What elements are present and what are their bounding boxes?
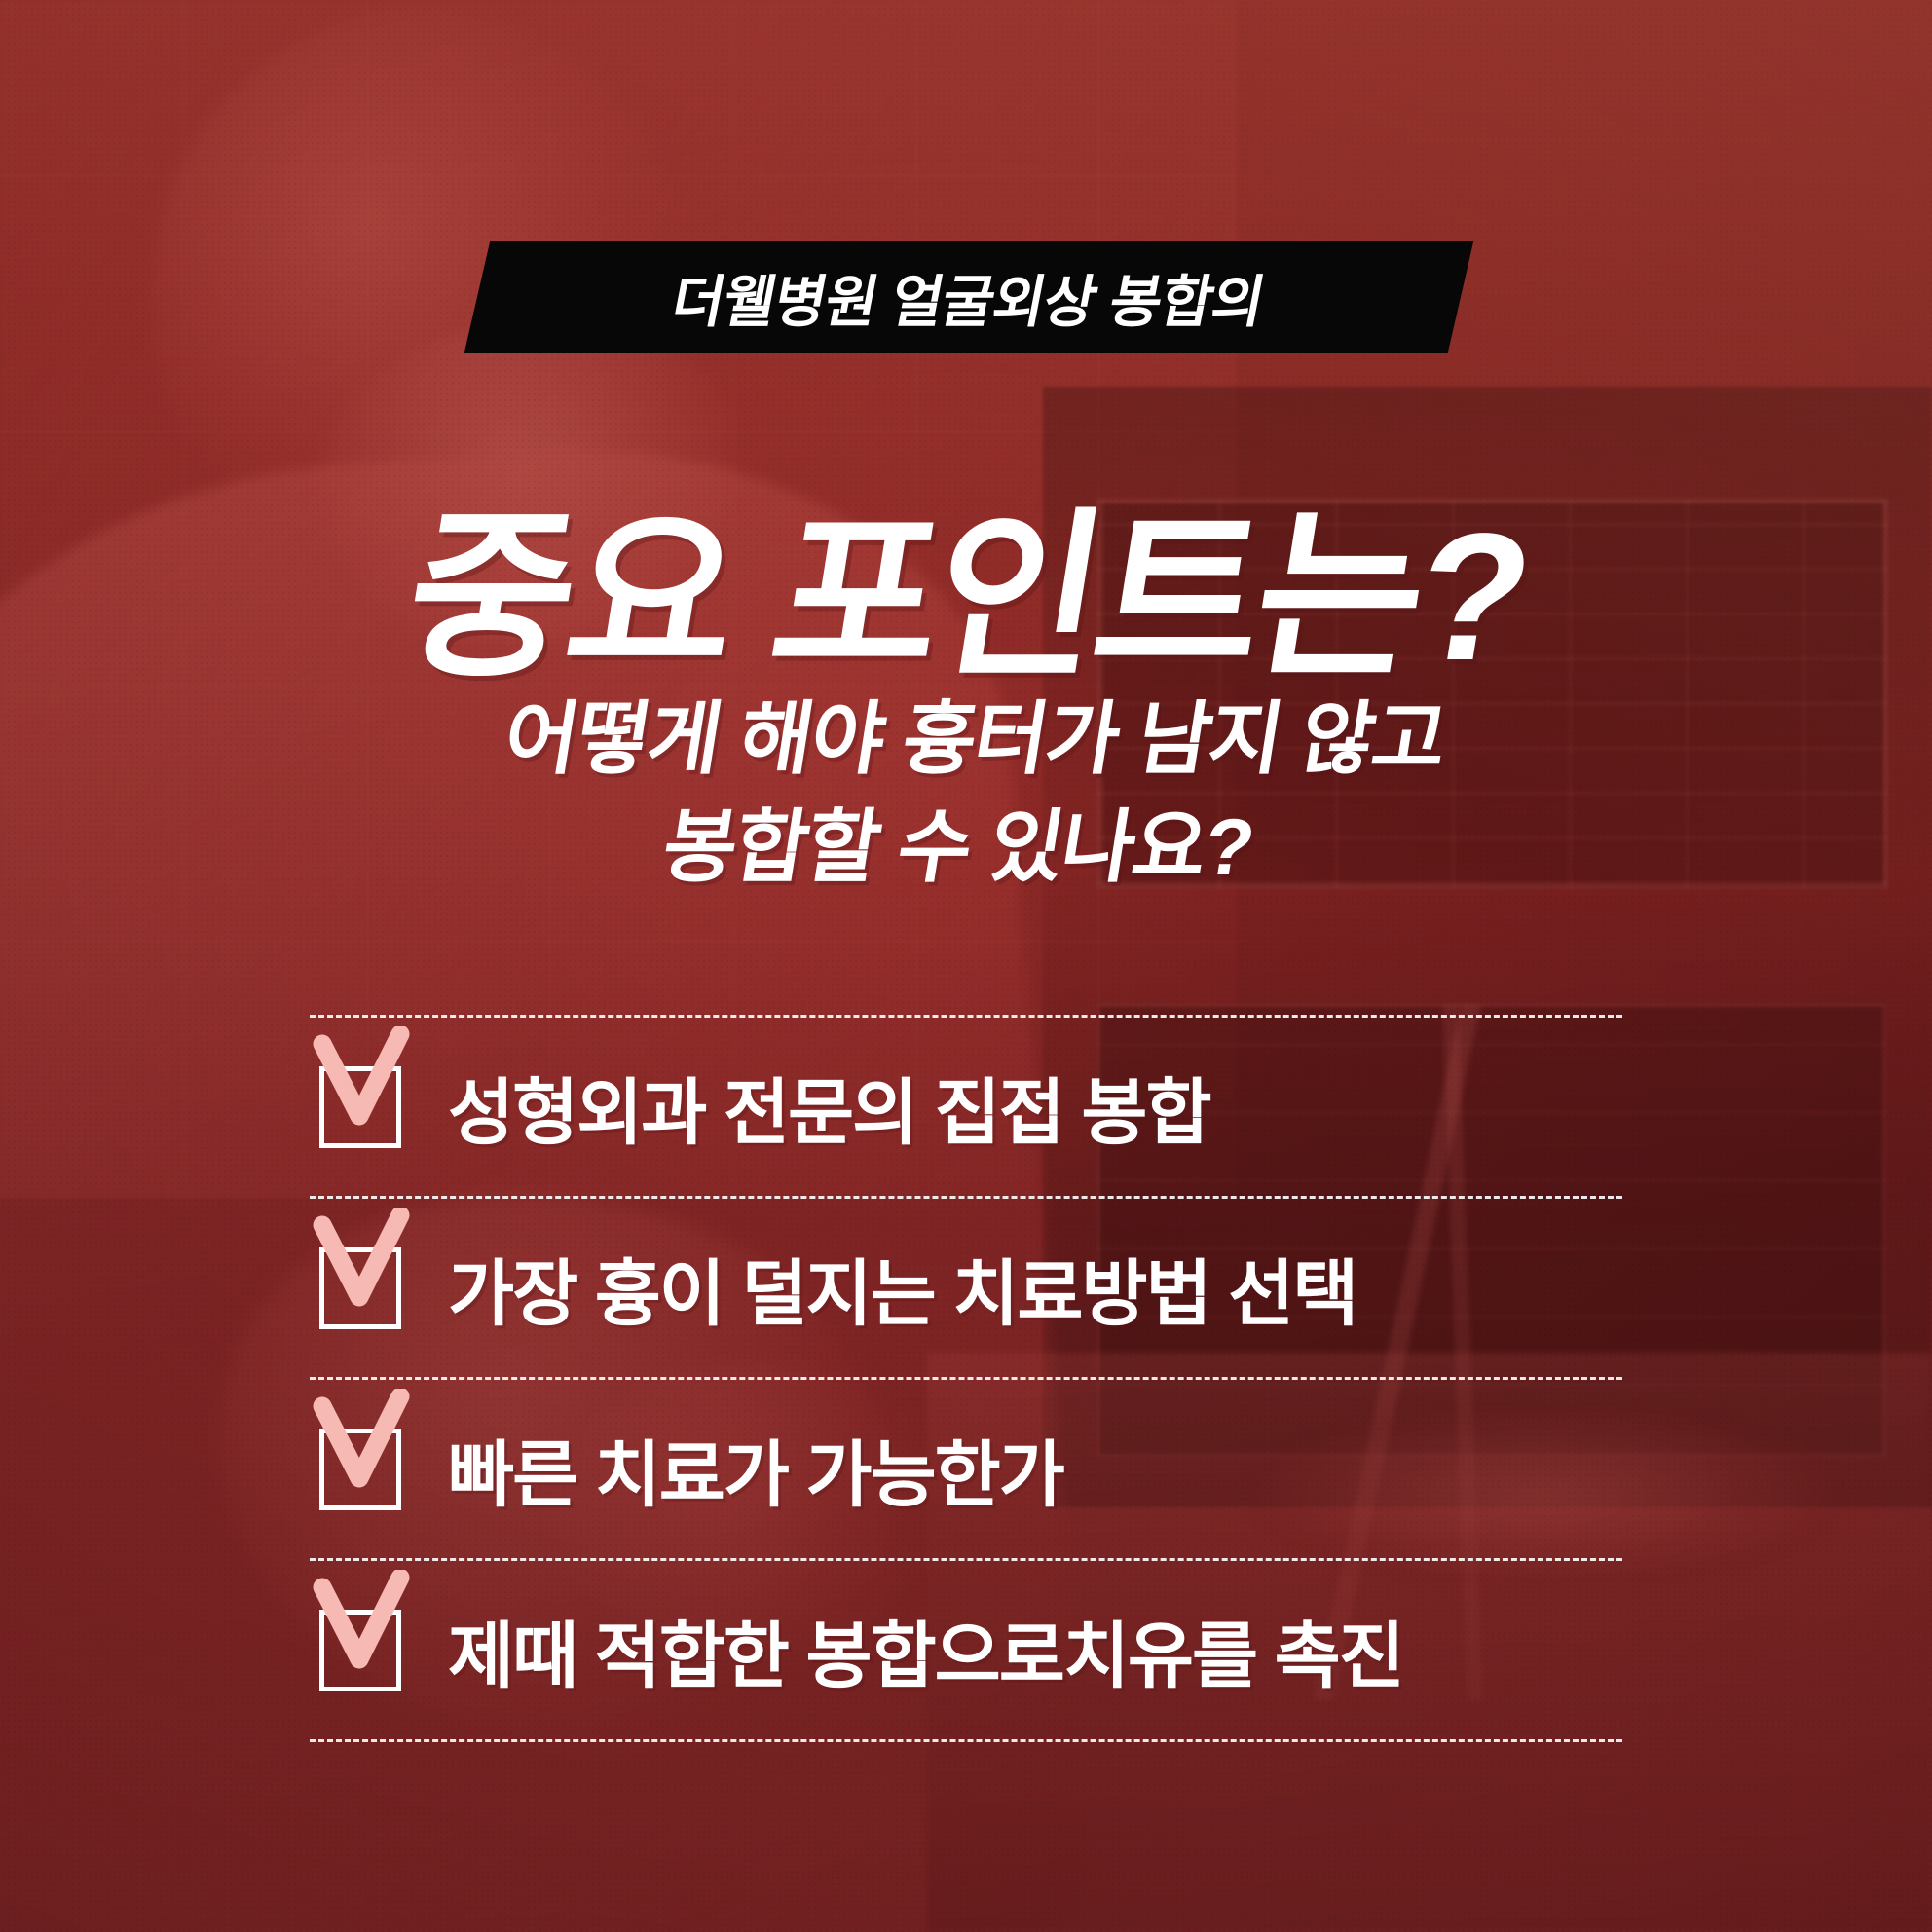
list-item: 제때 적합한 봉합으로치유를 촉진 [310, 1561, 1622, 1739]
checklist-divider-2 [310, 1377, 1622, 1380]
checklist: 성형외과 전문의 집접 봉합 가장 흉이 덜지는 치료방법 선택 [310, 1015, 1622, 1742]
list-item: 가장 흉이 덜지는 치료방법 선택 [310, 1199, 1622, 1377]
checklist-divider-top [310, 1015, 1622, 1018]
list-item-label: 가장 흉이 덜지는 치료방법 선택 [448, 1236, 1356, 1340]
poster-canvas: 더웰병원 얼굴외상 봉합의 중요 포인트는? 어떻게 해야 흉터가 남지 않고 … [0, 0, 1932, 1932]
checkbox-square [319, 1610, 401, 1691]
checkbox-square [319, 1066, 401, 1148]
list-item-label: 제때 적합한 봉합으로치유를 촉진 [448, 1598, 1403, 1702]
list-item: 빠른 치료가 가능한가 [310, 1380, 1622, 1558]
checkmark-icon [303, 1570, 420, 1687]
checklist-divider-1 [310, 1196, 1622, 1199]
poster-content: 더웰병원 얼굴외상 봉합의 중요 포인트는? 어떻게 해야 흉터가 남지 않고 … [0, 0, 1932, 1932]
subtitle-line-1: 어떻게 해야 흉터가 남지 않고 [0, 687, 1932, 795]
checkmark-icon [303, 1207, 420, 1324]
list-item-label: 빠른 치료가 가능한가 [448, 1417, 1063, 1521]
banner-label: 더웰병원 얼굴외상 봉합의 [666, 256, 1273, 338]
title-banner: 더웰병원 얼굴외상 봉합의 [464, 241, 1474, 353]
checkmark-icon [303, 1026, 420, 1143]
subtitle-block: 어떻게 해야 흉터가 남지 않고 봉합할 수 있나요? [0, 687, 1932, 902]
checkbox-square [319, 1247, 401, 1329]
page-title: 중요 포인트는? [0, 507, 1932, 688]
list-item-label: 성형외과 전문의 집접 봉합 [448, 1055, 1210, 1159]
checkbox-square [319, 1429, 401, 1510]
checkmark-icon [303, 1389, 420, 1505]
checklist-divider-3 [310, 1558, 1622, 1561]
subtitle-line-2: 봉합할 수 있나요? [0, 795, 1932, 903]
list-item: 성형외과 전문의 집접 봉합 [310, 1018, 1622, 1196]
checklist-divider-bottom [310, 1739, 1622, 1742]
